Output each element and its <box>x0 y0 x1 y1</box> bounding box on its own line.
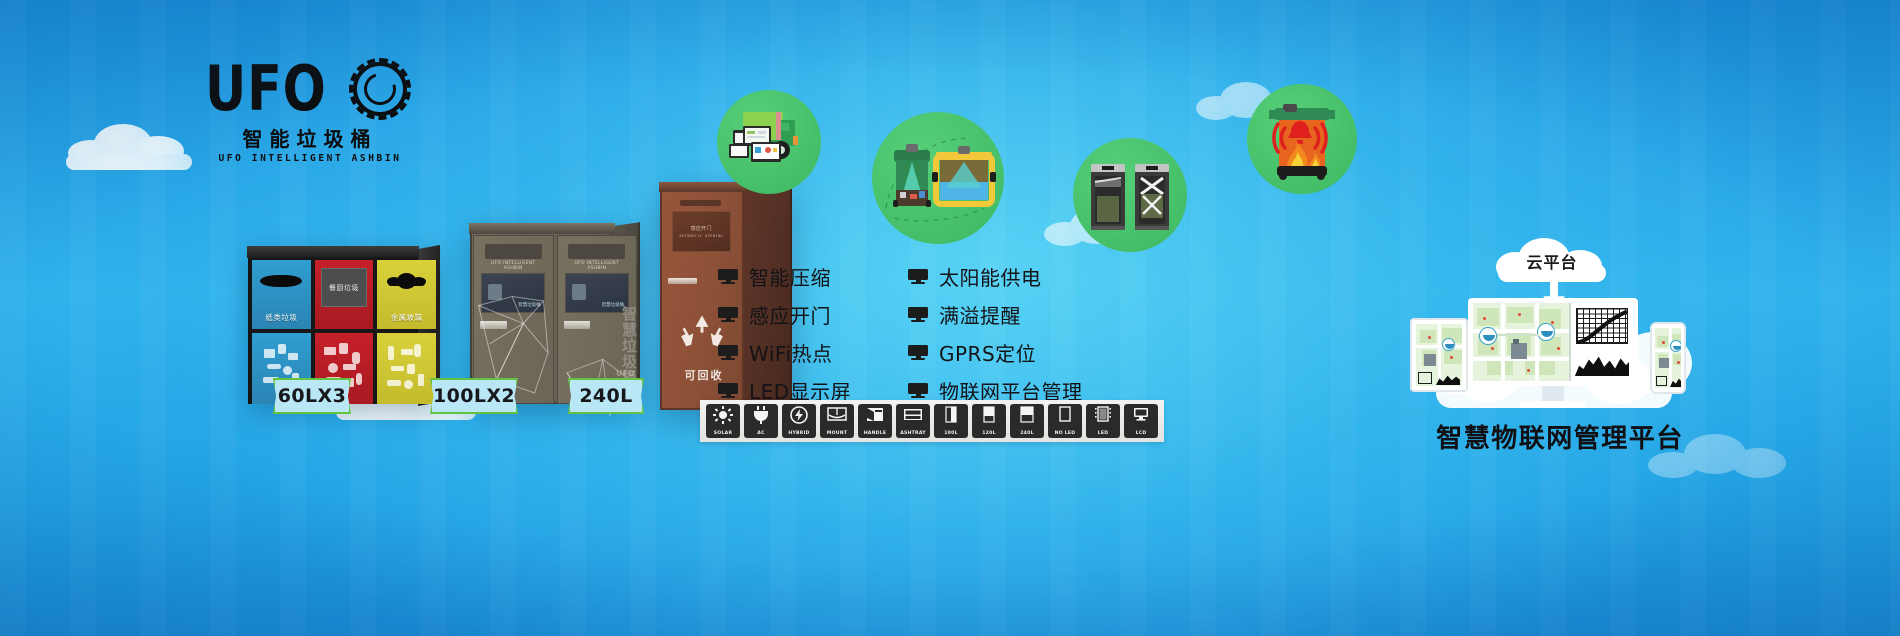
ashtray-icon <box>902 406 924 424</box>
feature-label: 太阳能供电 <box>939 262 1042 291</box>
door-handle-left[interactable] <box>480 321 507 329</box>
feature-label: 智能压缩 <box>749 262 831 291</box>
feature-label: 满溢提醒 <box>939 300 1021 329</box>
spec-chip-label: HANDLE <box>858 431 892 436</box>
capacity-ribbon-240l: 240L <box>568 378 644 414</box>
feature-item: 满溢提醒 <box>908 300 1108 329</box>
bin-logo-wordmark: UFO <box>616 369 632 378</box>
door-handle-right[interactable] <box>564 321 591 329</box>
feature-item: 感应开门 <box>718 300 898 329</box>
bin-240l-screen: 感应开门 AUTOMATIC OPENING <box>672 211 731 252</box>
feature-item: 智能压缩 <box>718 262 898 291</box>
spec-chip-label: MOUNT <box>820 431 854 436</box>
iot-platform-title: 智慧物联网管理平台 <box>1395 418 1725 455</box>
phone-map-view <box>1655 328 1681 388</box>
spec-chip-240l[interactable]: 240L <box>1010 404 1044 438</box>
fire-alarm-bin-icon <box>1247 84 1357 194</box>
logo-name-cn: 智能垃圾桶 <box>205 123 415 152</box>
gear-ring-icon <box>349 58 411 120</box>
cloud-platform-badge: 云平台 <box>1496 236 1608 282</box>
circle-fill-level-sensor <box>872 112 1004 244</box>
spec-chip-ashtray[interactable]: ASHTRAY <box>896 404 930 438</box>
logo-wordmark: UFO <box>205 60 327 118</box>
bin-compartment-label: 金属玻璃 <box>377 312 436 323</box>
door-screen-caption: 智慧垃圾桶 <box>518 302 541 308</box>
banner-canvas: UFO 智能垃圾桶 UFO INTELLIGENT ASHBIN 纸类垃圾 <box>0 0 1900 636</box>
spec-chip-100l[interactable]: 100L <box>934 404 968 438</box>
sun-icon <box>712 406 734 424</box>
monitor-icon <box>718 345 738 360</box>
line-chart-curve <box>1576 308 1628 344</box>
spec-chip-label: 120L <box>972 431 1006 436</box>
spec-chip-handle[interactable]: HANDLE <box>858 404 892 438</box>
spec-icon-strip: SOLAR AC HYBRID MOUNT <box>700 400 1164 442</box>
ultrasonic-fill-sensor-icon <box>872 112 1004 244</box>
bin-240l-screen-cn: 感应开门 <box>691 225 712 232</box>
led-panel-icon <box>1092 406 1114 424</box>
spec-chip-label: ASHTRAY <box>896 431 930 436</box>
feature-list: 智能压缩 太阳能供电 感应开门 满溢提醒 WiFi热点 GPRS定位 LED显示… <box>718 262 1098 405</box>
bin-compartment-label: 纸类垃圾 <box>252 312 311 323</box>
circle-fire-alarm <box>1247 84 1357 194</box>
cloud-left-upper <box>58 118 208 168</box>
handle-icon <box>864 406 886 424</box>
door-header-plate <box>568 244 625 259</box>
feature-item: 太阳能供电 <box>908 262 1108 291</box>
spec-chip-label: 240L <box>1010 431 1044 436</box>
spec-chip-solar[interactable]: SOLAR <box>706 404 740 438</box>
feature-item: GPRS定位 <box>908 338 1108 367</box>
iot-device-desktop[interactable] <box>1468 298 1638 410</box>
door-header-text: UFO INTELLIGENT ASHBIN <box>482 261 545 269</box>
logo-name-en: UFO INTELLIGENT ASHBIN <box>205 153 415 164</box>
spec-chip-led[interactable]: LED <box>1086 404 1120 438</box>
wall-mount-icon <box>826 406 848 424</box>
door-header-text: UFO INTELLIGENT ASHBIN <box>565 261 628 269</box>
cloud-platform-label: 云平台 <box>1496 249 1608 273</box>
feature-label: 感应开门 <box>749 300 831 329</box>
monitor-icon <box>908 269 928 284</box>
feature-item: WiFi热点 <box>718 338 898 367</box>
spec-chip-120l[interactable]: 120L <box>972 404 1006 438</box>
monitor-frame <box>1468 298 1638 386</box>
capacity-ribbon-100lx2: 100LX2 <box>430 378 518 414</box>
waste-type-pictograms <box>377 333 436 404</box>
door-display-screen: 智慧垃圾桶 <box>481 273 545 313</box>
spec-chip-label: 100L <box>934 431 968 436</box>
monitor-icon <box>908 345 928 360</box>
spec-chip-label: AC <box>744 431 778 436</box>
monitor-icon <box>908 383 928 398</box>
monitor-screen <box>1473 303 1633 381</box>
spec-chip-label: LCD <box>1124 431 1158 436</box>
bin-240l-handle[interactable] <box>668 278 697 283</box>
capacity-ribbon-60lx3: 60LX3 <box>273 378 351 414</box>
bin-100l-icon <box>940 406 962 424</box>
bin-240l-top-plate <box>680 200 722 207</box>
monitor-icon <box>718 307 738 322</box>
monitor-icon <box>718 269 738 284</box>
spec-chip-label: NO LED <box>1048 431 1082 436</box>
iot-device-tablet[interactable] <box>1410 318 1468 392</box>
bin-240l-screen-en: AUTOMATIC OPENING <box>679 234 723 238</box>
spec-chip-label: SOLAR <box>706 431 740 436</box>
monitor-base <box>1520 401 1586 408</box>
bin-compartment-yellow: 金属玻璃 <box>377 260 436 404</box>
spec-chip-ac[interactable]: AC <box>744 404 778 438</box>
spec-chip-lcd[interactable]: LCD <box>1124 404 1158 438</box>
bin-compartment-label: 餐厨垃圾 <box>329 283 359 293</box>
bin-100lx2-top-cap <box>469 223 615 234</box>
bin-120l-icon <box>978 406 1000 424</box>
monitor-chart-panel <box>1569 303 1633 381</box>
blank-panel-icon <box>1054 406 1076 424</box>
spec-chip-hybrid[interactable]: HYBRID <box>782 404 816 438</box>
spec-chip-label: HYBRID <box>782 431 816 436</box>
tablet-map-view <box>1416 324 1462 386</box>
monitor-stand <box>1542 386 1564 402</box>
bin-compartment-screen: 餐厨垃圾 <box>321 268 368 307</box>
garbage-truck-with-devices-icon <box>717 90 821 194</box>
iot-device-phone[interactable] <box>1650 322 1686 394</box>
monitor-map-panel <box>1473 303 1569 381</box>
spec-chip-no-led[interactable]: NO LED <box>1048 404 1082 438</box>
feature-label: WiFi热点 <box>749 338 833 367</box>
plug-icon <box>750 406 772 424</box>
brand-logo: UFO 智能垃圾桶 UFO INTELLIGENT ASHBIN <box>205 58 415 163</box>
logo-wordmark-row: UFO <box>205 58 415 120</box>
lightning-circle-icon <box>788 406 810 424</box>
bin-240l-icon <box>1016 406 1038 424</box>
feature-label: GPRS定位 <box>939 338 1036 367</box>
lcd-screen-icon <box>1130 406 1152 424</box>
spec-chip-mount[interactable]: MOUNT <box>820 404 854 438</box>
spec-chip-label: LED <box>1086 431 1120 436</box>
circle-compaction <box>1073 138 1187 252</box>
waste-compaction-icon <box>1073 138 1187 252</box>
oval-slot-icon <box>260 275 302 287</box>
cloud-slot-icon <box>383 272 430 290</box>
monitor-icon <box>908 307 928 322</box>
door-header-plate <box>485 244 542 259</box>
iot-platform-illustration: 云平台 <box>1410 236 1710 426</box>
monitor-icon <box>718 383 738 398</box>
circle-collection-truck <box>717 90 821 194</box>
bin-60lx3-top-cap <box>247 246 419 258</box>
